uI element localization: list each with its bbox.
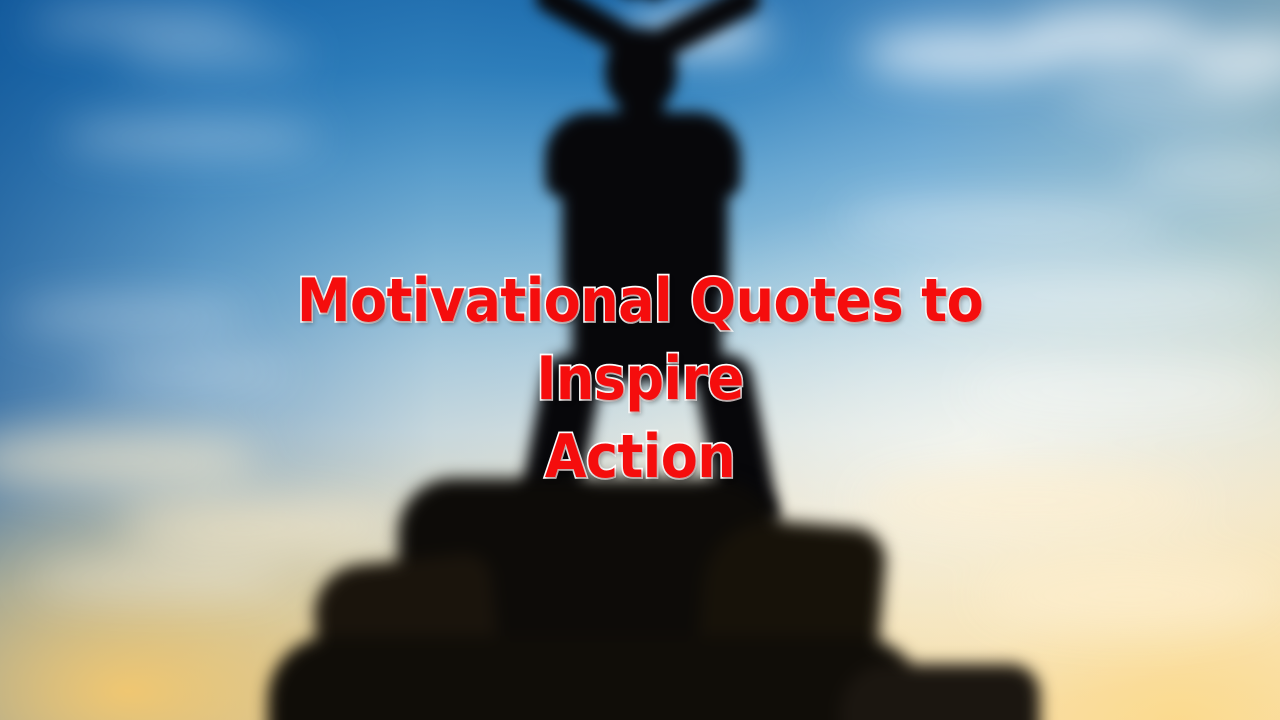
title-block: Motivational Quotes to Inspire Action [0, 262, 1280, 496]
silhouette-left-foot [516, 492, 594, 522]
silhouette-right-foot [700, 492, 778, 522]
motivational-banner: Motivational Quotes to Inspire Action [0, 0, 1280, 720]
page-title: Motivational Quotes to Inspire Action [235, 262, 1045, 496]
